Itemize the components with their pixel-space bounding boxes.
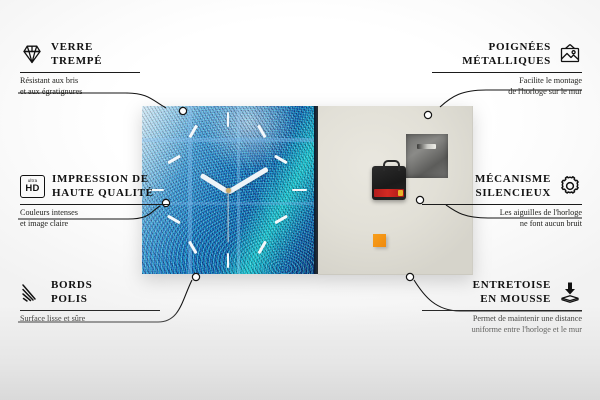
grid-line [142,138,314,142]
callout-divider [422,204,582,205]
callout-title: VERRE TREMPÉ [51,40,102,68]
callout-divider [422,310,582,311]
callout-verre-trempe[interactable]: VERRE TREMPÉ Résistant aux bris et aux é… [20,40,140,97]
clock-second-hand [227,191,228,243]
polished-edges-icon [20,280,44,304]
ultra-hd-icon-main-label: HD [25,184,39,194]
callout-title: BORDS POLIS [51,278,92,306]
callout-title: IMPRESSION DE HAUTE QUALITÉ [52,172,154,200]
hanger-slot [417,144,436,149]
diamond-icon [20,42,44,66]
callout-header: ultra HD IMPRESSION DE HAUTE QUALITÉ [20,172,170,200]
callout-impression-haute-qualite[interactable]: ultra HD IMPRESSION DE HAUTE QUALITÉ Cou… [20,172,170,229]
callout-header: MÉCANISME SILENCIEUX [422,172,582,200]
callout-title: POIGNÉES MÉTALLIQUES [462,40,551,68]
callout-description: Facilite le montage de l'horloge sur le … [432,76,582,97]
foam-spacer [373,234,386,247]
callout-header: ENTRETOISE EN MOUSSE [422,278,582,306]
gear-icon [558,174,582,198]
callout-divider [432,72,582,73]
ultra-hd-icon: ultra HD [20,175,45,198]
callout-description: Permet de maintenir une distance uniform… [422,314,582,335]
callout-poignees-metalliques[interactable]: POIGNÉES MÉTALLIQUES Facilite le montage… [432,40,582,97]
callout-description: Surface lisse et sûre [20,314,160,325]
callout-divider [20,204,170,205]
callout-description: Couleurs intenses et image claire [20,208,170,229]
clock-tick [292,189,307,192]
battery-plus-terminal [398,190,403,196]
callout-title: MÉCANISME SILENCIEUX [475,172,551,200]
callout-description: Les aiguilles de l'horloge ne font aucun… [422,208,582,229]
clock-tick [227,253,230,268]
callout-divider [20,310,160,311]
infographic-canvas: VERRE TREMPÉ Résistant aux bris et aux é… [0,0,600,400]
callout-header: BORDS POLIS [20,278,160,306]
clock-tick [227,112,230,127]
callout-header: POIGNÉES MÉTALLIQUES [432,40,582,68]
callout-mecanisme-silencieux[interactable]: MÉCANISME SILENCIEUX Les aiguilles de l'… [422,172,582,229]
callout-title: ENTRETOISE EN MOUSSE [473,278,551,306]
callout-entretoise-en-mousse[interactable]: ENTRETOISE EN MOUSSE Permet de maintenir… [422,278,582,335]
picture-frame-icon [558,42,582,66]
movement-hanger-loop [383,160,400,171]
connector-dot-bords-polis [192,273,199,280]
down-arrow-pad-icon [558,280,582,304]
grid-line [237,106,240,274]
clock-center-pin [226,188,231,193]
callout-divider [20,72,140,73]
callout-description: Résistant aux bris et aux égratignures [20,76,140,97]
clock-movement [372,166,406,200]
callout-header: VERRE TREMPÉ [20,40,140,68]
callout-bords-polis[interactable]: BORDS POLIS Surface lisse et sûre [20,278,160,325]
battery [374,189,404,197]
